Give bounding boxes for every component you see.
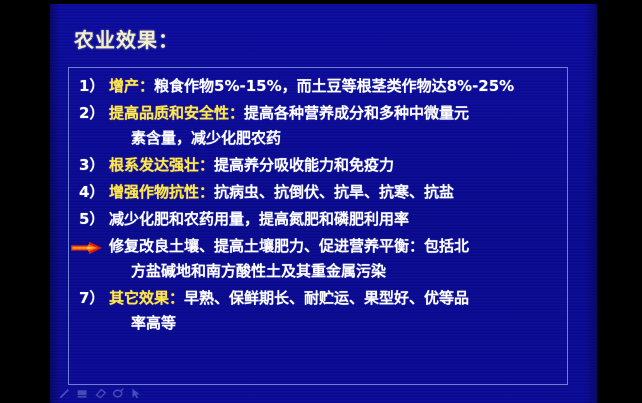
screen-capture: 农业效果： 1）增产：粮食作物5%-15%，而土豆等根茎类作物达8%-25%2）… — [0, 0, 642, 403]
list-item-text: 其它效果：早熟、保鲜期长、耐贮运、果型好、优等品率高等 — [109, 286, 561, 336]
list-item-continuation: 率高等 — [109, 311, 561, 336]
red-arrow-icon — [71, 240, 105, 254]
ink-toolbar[interactable] — [58, 385, 143, 398]
list-item-number: 1） — [79, 74, 109, 99]
list-item-body: 早熟、保鲜期长、耐贮运、果型好、优等品 — [184, 289, 469, 307]
bullet-list: 1）增产：粮食作物5%-15%，而土豆等根茎类作物达8%-25%2）提高品质和安… — [69, 68, 567, 338]
list-item: 4）增强作物抗性：抗病虫、抗倒伏、抗旱、抗寒、抗盐 — [69, 180, 567, 205]
list-item-continuation: 方盐碱地和南方酸性土及其重金属污染 — [109, 259, 561, 284]
marker-icon[interactable] — [76, 385, 89, 398]
list-item-body: 修复改良土壤、提高土壤肥力、促进营养平衡：包括北 — [109, 237, 469, 255]
list-item: 2）提高品质和安全性：提高各种营养成分和多种中微量元素含量，减少化肥农药 — [69, 101, 567, 151]
list-item-text: 增强作物抗性：抗病虫、抗倒伏、抗旱、抗寒、抗盐 — [109, 180, 561, 205]
list-item-body: 减少化肥和农药用量，提高氮肥和磷肥利用率 — [109, 210, 409, 228]
list-item-body: 抗病虫、抗倒伏、抗旱、抗寒、抗盐 — [214, 183, 454, 201]
list-item-number: 5） — [79, 207, 109, 232]
list-item-keyword: 提高品质和安全性： — [109, 104, 244, 122]
list-item-text: 提高品质和安全性：提高各种营养成分和多种中微量元素含量，减少化肥农药 — [109, 101, 561, 151]
list-item-text: 修复改良土壤、提高土壤肥力、促进营养平衡：包括北方盐碱地和南方酸性土及其重金属污… — [109, 234, 561, 284]
highlighter-icon[interactable] — [112, 385, 125, 398]
list-item-keyword: 增强作物抗性： — [109, 183, 214, 201]
eraser-icon[interactable] — [94, 385, 107, 398]
list-item-number: 4） — [79, 180, 109, 205]
list-item: 5）减少化肥和农药用量，提高氮肥和磷肥利用率 — [69, 207, 567, 232]
list-item: 1）增产：粮食作物5%-15%，而土豆等根茎类作物达8%-25% — [69, 74, 567, 99]
list-item: 修复改良土壤、提高土壤肥力、促进营养平衡：包括北方盐碱地和南方酸性土及其重金属污… — [69, 234, 567, 284]
list-item-text: 减少化肥和农药用量，提高氮肥和磷肥利用率 — [109, 207, 561, 232]
slide-content-box: 1）增产：粮食作物5%-15%，而土豆等根茎类作物达8%-25%2）提高品质和安… — [68, 67, 568, 385]
list-item-body: 提高养分吸收能力和免疫力 — [214, 156, 394, 174]
list-item-keyword: 根系发达强壮： — [109, 156, 214, 174]
list-item-keyword: 其它效果： — [109, 289, 184, 307]
list-item-continuation: 素含量，减少化肥农药 — [109, 126, 561, 151]
list-item-body: 粮食作物5%-15%，而土豆等根茎类作物达8%-25% — [154, 77, 514, 95]
presentation-slide: 农业效果： 1）增产：粮食作物5%-15%，而土豆等根茎类作物达8%-25%2）… — [50, 4, 597, 403]
list-item-text: 根系发达强壮：提高养分吸收能力和免疫力 — [109, 153, 561, 178]
list-item-keyword: 增产： — [109, 77, 154, 95]
list-item: 3）根系发达强壮：提高养分吸收能力和免疫力 — [69, 153, 567, 178]
pen-icon[interactable] — [58, 385, 71, 398]
list-item: 7）其它效果：早熟、保鲜期长、耐贮运、果型好、优等品率高等 — [69, 286, 567, 336]
list-item-body: 提高各种营养成分和多种中微量元 — [244, 104, 469, 122]
pointer-icon[interactable] — [130, 385, 143, 398]
list-item-text: 增产：粮食作物5%-15%，而土豆等根茎类作物达8%-25% — [109, 74, 561, 99]
list-item-number: 7） — [79, 286, 109, 311]
list-item-number: 2） — [79, 101, 109, 126]
page-title: 农业效果： — [74, 24, 179, 53]
list-item-number: 3） — [79, 153, 109, 178]
